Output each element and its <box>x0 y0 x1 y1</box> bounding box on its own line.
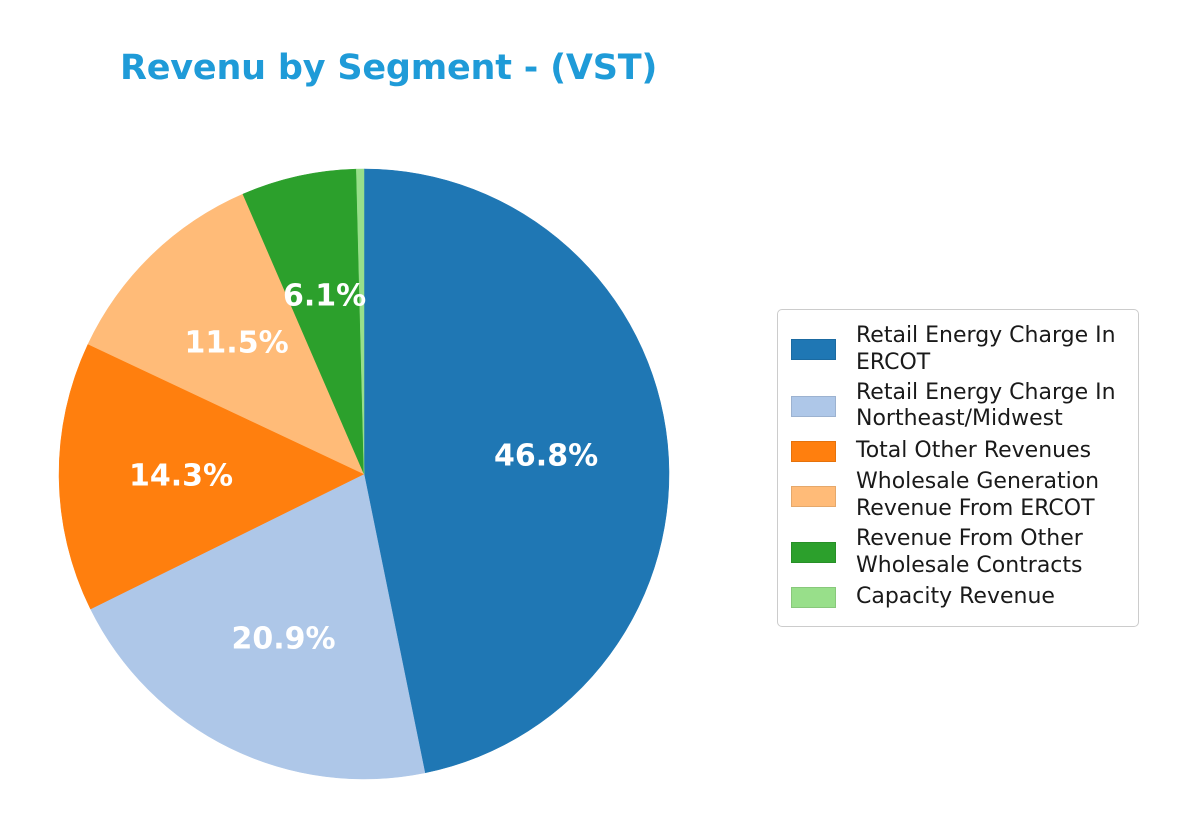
legend-item[interactable]: Capacity Revenue <box>791 583 1126 613</box>
page-title: Revenu by Segment - (VST) <box>120 48 657 88</box>
pie-slice-percentage-label: 20.9% <box>231 621 335 656</box>
legend-item-label: Retail Energy Charge In Northeast/Midwes… <box>856 380 1116 434</box>
chart-legend: Retail Energy Charge In ERCOTRetail Ener… <box>777 309 1139 627</box>
legend-item[interactable]: Retail Energy Charge In ERCOT <box>791 323 1126 377</box>
legend-item[interactable]: Revenue From Other Wholesale Contracts <box>791 526 1126 580</box>
legend-color-swatch <box>791 441 836 462</box>
pie-slice-percentage-label: 46.8% <box>494 439 598 474</box>
pie-chart-figure: Revenu by Segment - (VST) 46.8%20.9%14.3… <box>0 0 1200 829</box>
pie-slice-percentage-label: 6.1% <box>283 278 366 313</box>
pie-svg: 46.8%20.9%14.3%11.5%6.1% <box>57 167 671 781</box>
legend-item[interactable]: Total Other Revenues <box>791 436 1126 466</box>
legend-color-swatch <box>791 587 836 608</box>
legend-item-label: Retail Energy Charge In ERCOT <box>856 323 1116 377</box>
legend-item[interactable]: Retail Energy Charge In Northeast/Midwes… <box>791 380 1126 434</box>
legend-color-swatch <box>791 486 836 507</box>
legend-color-swatch <box>791 339 836 360</box>
pie-chart-plot: 46.8%20.9%14.3%11.5%6.1% <box>57 167 671 781</box>
legend-item-label: Revenue From Other Wholesale Contracts <box>856 526 1083 580</box>
legend-item-label: Total Other Revenues <box>856 438 1091 465</box>
legend-item-label: Wholesale Generation Revenue From ERCOT <box>856 469 1099 523</box>
legend-item-label: Capacity Revenue <box>856 584 1055 611</box>
legend-item[interactable]: Wholesale Generation Revenue From ERCOT <box>791 469 1126 523</box>
legend-color-swatch <box>791 396 836 417</box>
pie-slice-percentage-label: 11.5% <box>185 326 289 361</box>
legend-color-swatch <box>791 542 836 563</box>
pie-slice-percentage-label: 14.3% <box>129 459 233 494</box>
